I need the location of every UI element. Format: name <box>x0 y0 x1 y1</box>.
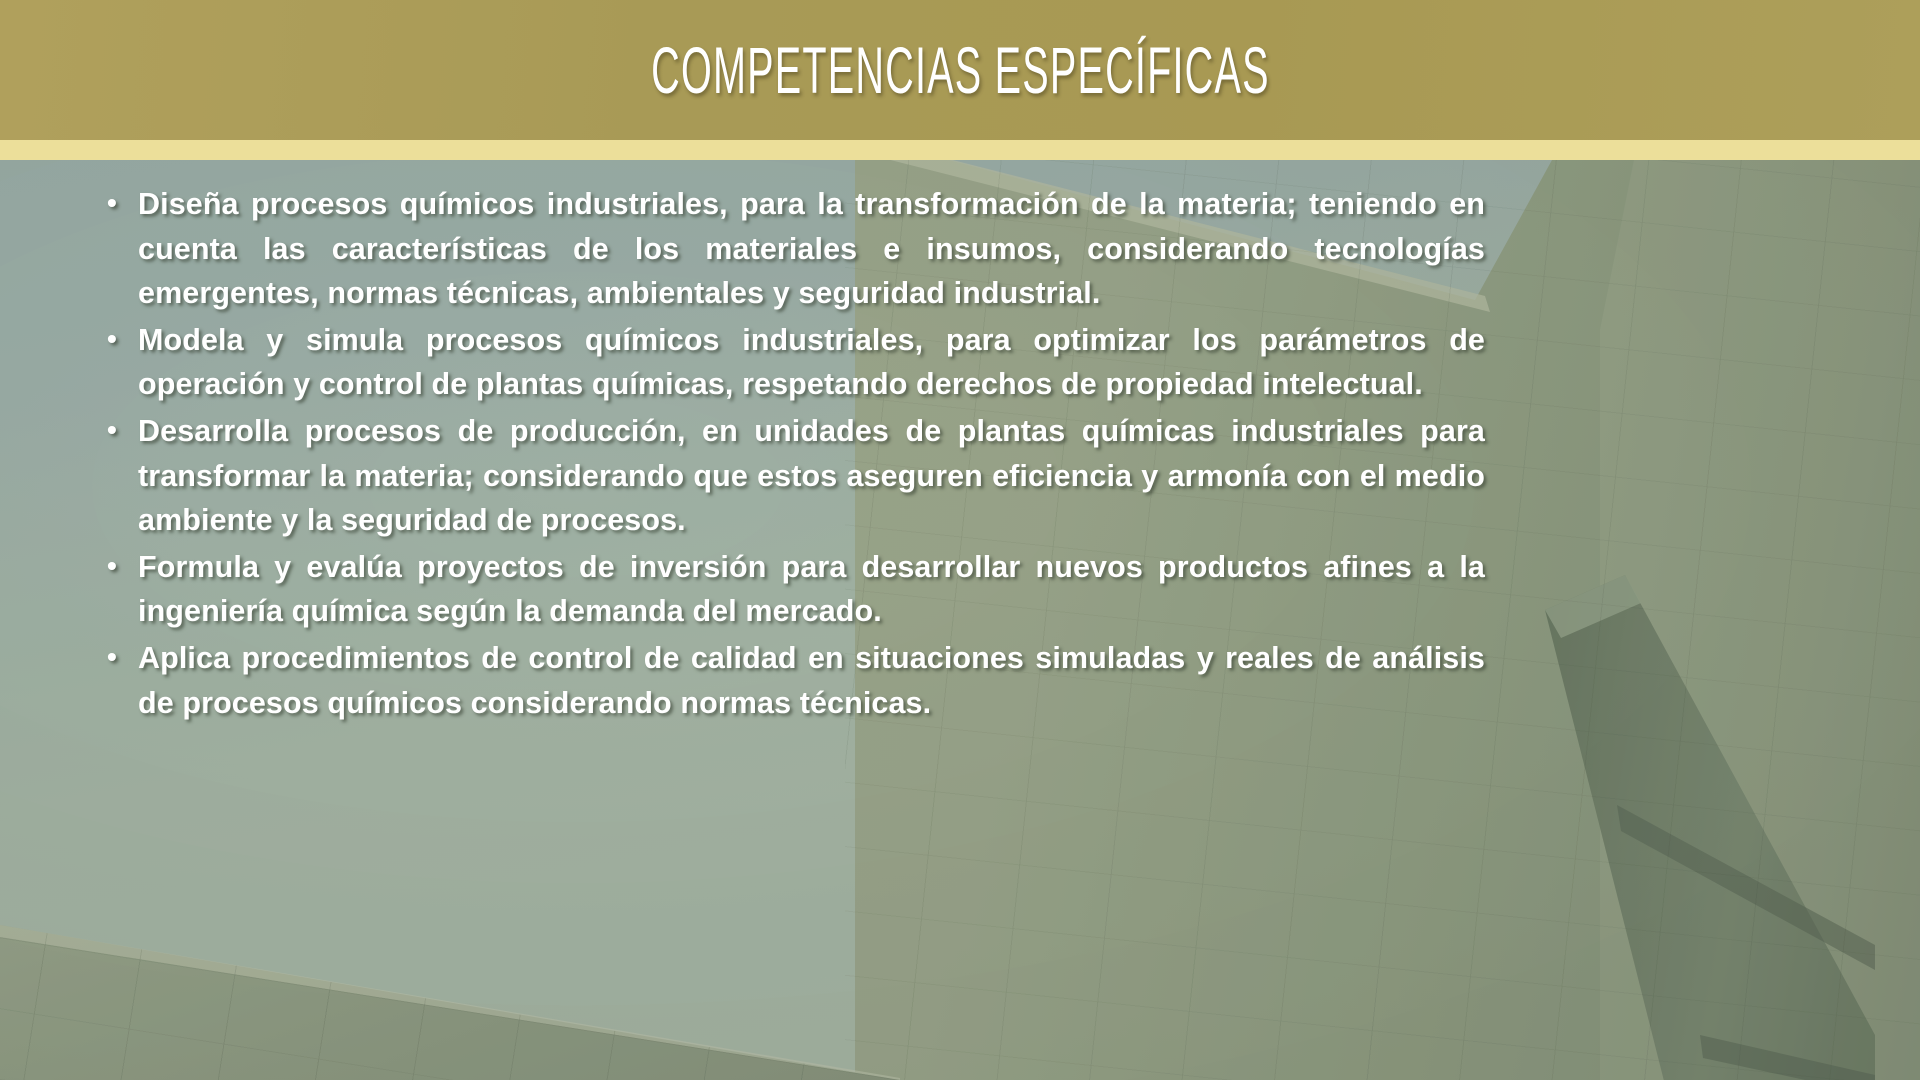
competencies-list: Diseña procesos químicos industriales, p… <box>105 182 1485 725</box>
list-item: Formula y evalúa proyectos de inversión … <box>105 545 1485 634</box>
list-item-text: Desarrolla procesos de producción, en un… <box>138 414 1485 537</box>
list-item: Diseña procesos químicos industriales, p… <box>105 182 1485 316</box>
page-title: COMPETENCIAS ESPECÍFICAS <box>651 37 1270 103</box>
list-item: Modela y simula procesos químicos indust… <box>105 318 1485 407</box>
slide-content: Diseña procesos químicos industriales, p… <box>105 182 1485 727</box>
list-item-text: Modela y simula procesos químicos indust… <box>138 323 1485 402</box>
list-item: Aplica procedimientos de control de cali… <box>105 636 1485 725</box>
list-item-text: Formula y evalúa proyectos de inversión … <box>138 550 1485 629</box>
slide-header-band: COMPETENCIAS ESPECÍFICAS <box>0 0 1920 140</box>
list-item: Desarrolla procesos de producción, en un… <box>105 409 1485 543</box>
header-underline-strip <box>0 140 1920 160</box>
list-item-text: Aplica procedimientos de control de cali… <box>138 641 1485 720</box>
list-item-text: Diseña procesos químicos industriales, p… <box>138 187 1485 310</box>
presentation-slide: COMPETENCIAS ESPECÍFICAS Diseña procesos… <box>0 0 1920 1080</box>
